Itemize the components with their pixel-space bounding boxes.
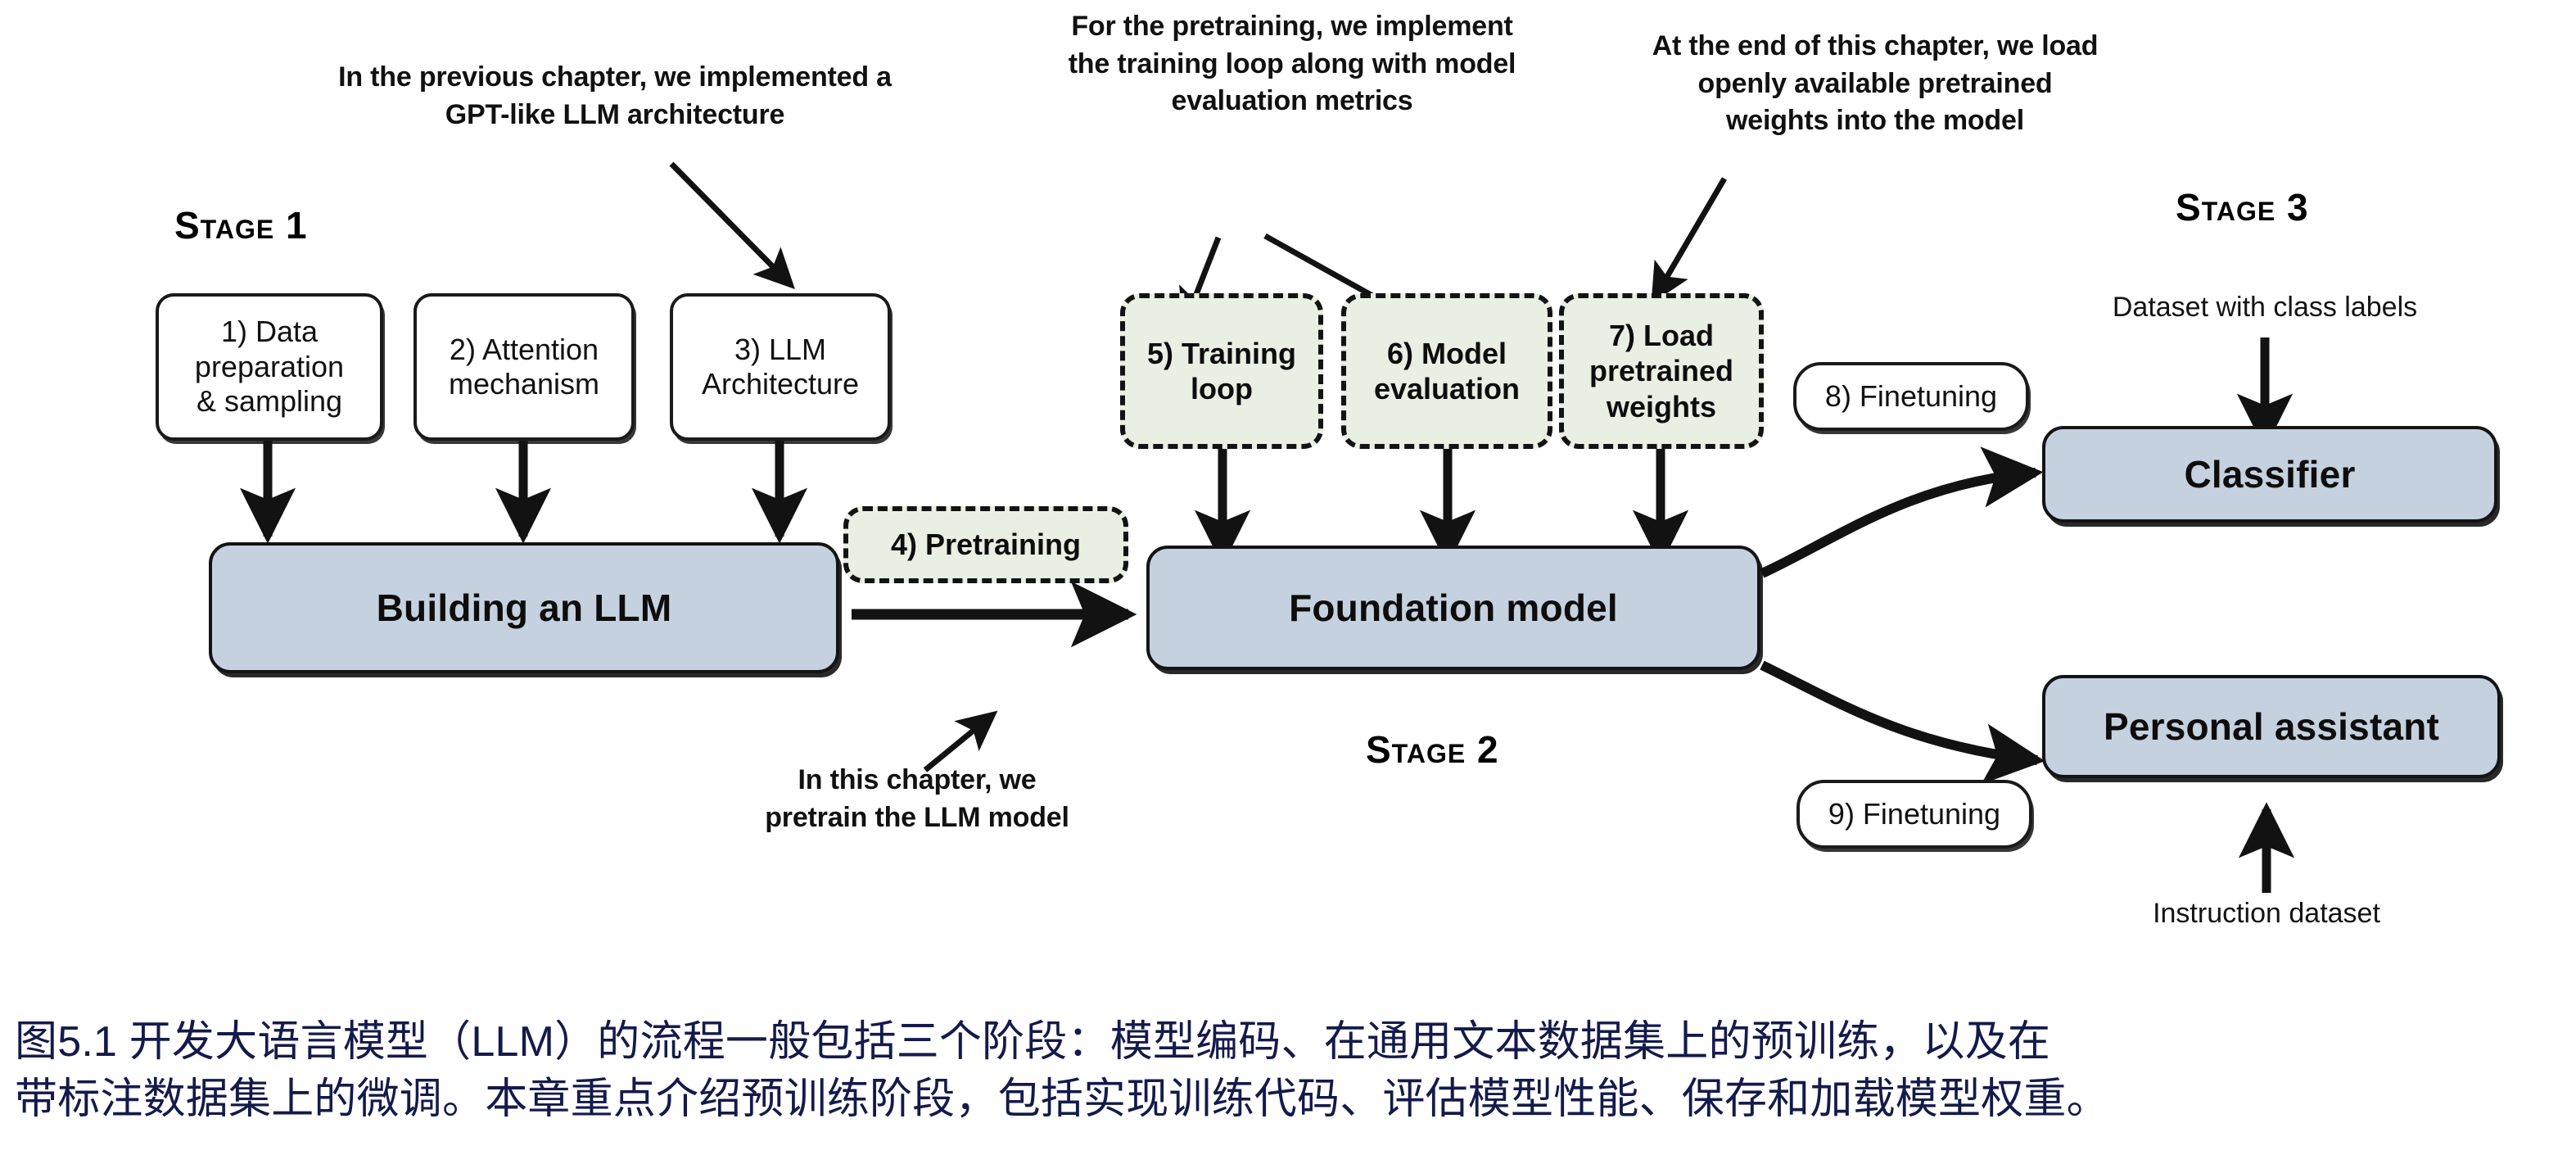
- main-box-building-an-llm[interactable]: Building an LLM: [209, 542, 839, 673]
- step-box-line: weights: [1607, 389, 1716, 424]
- step-box-label: 4) Pretraining: [891, 527, 1081, 562]
- step-box-load-pretrained-weights[interactable]: 7) Load pretrained weights: [1559, 293, 1764, 449]
- callout-pretraining-loop: For the pretraining, we implement the tr…: [1022, 8, 1562, 120]
- step-pill-finetuning-9[interactable]: 9) Finetuning: [1796, 780, 2032, 849]
- step-box-line: 7) Load: [1609, 318, 1714, 353]
- callout-line: evaluation metrics: [1022, 83, 1562, 120]
- note-instruction-dataset: Instruction dataset: [2111, 898, 2422, 930]
- note-dataset-class-labels: Dataset with class labels: [2077, 292, 2453, 324]
- main-box-label: Foundation model: [1289, 586, 1618, 630]
- callout-line: In this chapter, we: [721, 762, 1114, 799]
- step-box-line: loop: [1191, 371, 1253, 406]
- callout-this-chapter: In this chapter, we pretrain the LLM mod…: [721, 762, 1114, 836]
- step-box-line: 3) LLM: [734, 333, 826, 367]
- callout-load-weights: At the end of this chapter, we load open…: [1613, 28, 2137, 140]
- step-box-line: Architecture: [702, 367, 859, 401]
- callout-line: pretrain the LLM model: [721, 799, 1114, 837]
- step-box-line: evaluation: [1374, 371, 1520, 406]
- step-box-line: 6) Model: [1387, 336, 1507, 371]
- step-box-training-loop[interactable]: 5) Training loop: [1120, 293, 1323, 449]
- caption-line-2: 带标注数据集上的微调。本章重点介绍预训练阶段，包括实现训练代码、评估模型性能、保…: [15, 1071, 2569, 1129]
- step-box-line: 5) Training: [1147, 336, 1296, 371]
- figure-canvas: In the previous chapter, we implemented …: [0, 0, 2576, 1173]
- callout-line: For the pretraining, we implement: [1022, 8, 1562, 46]
- callout-line: openly available pretrained: [1613, 66, 2137, 103]
- step-box-line: preparation: [195, 350, 344, 384]
- main-box-label: Building an LLM: [377, 586, 672, 630]
- callout-line: GPT-like LLM architecture: [283, 97, 947, 134]
- step-box-data-preparation[interactable]: 1) Data preparation & sampling: [156, 293, 383, 441]
- step-box-model-evaluation[interactable]: 6) Model evaluation: [1341, 293, 1552, 449]
- callout-line: weights into the model: [1613, 102, 2137, 140]
- main-box-label: Classifier: [2184, 452, 2355, 496]
- stage-label-2: Stage 2: [1366, 727, 1499, 772]
- step-pill-label: 9) Finetuning: [1828, 797, 2000, 831]
- stage-label-3: Stage 3: [2176, 185, 2309, 229]
- step-box-line: 2) Attention: [450, 333, 599, 367]
- main-box-foundation-model[interactable]: Foundation model: [1146, 546, 1760, 670]
- main-box-classifier[interactable]: Classifier: [2042, 426, 2497, 523]
- callout-line: In the previous chapter, we implemented …: [283, 59, 947, 97]
- step-box-line: mechanism: [449, 367, 599, 401]
- figure-caption: 图5.1 开发大语言模型（LLM）的流程一般包括三个阶段：模型编码、在通用文本数…: [15, 1014, 2569, 1128]
- step-pill-finetuning-8[interactable]: 8) Finetuning: [1793, 362, 2029, 431]
- main-box-label: Personal assistant: [2104, 704, 2439, 749]
- step-box-line: 1) Data: [221, 315, 318, 349]
- step-box-attention-mechanism[interactable]: 2) Attention mechanism: [414, 293, 635, 441]
- caption-line-1: 图5.1 开发大语言模型（LLM）的流程一般包括三个阶段：模型编码、在通用文本数…: [15, 1014, 2569, 1071]
- main-box-personal-assistant[interactable]: Personal assistant: [2042, 675, 2501, 778]
- callout-previous-chapter: In the previous chapter, we implemented …: [283, 59, 947, 134]
- step-pill-label: 8) Finetuning: [1825, 379, 1997, 414]
- step-box-pretraining[interactable]: 4) Pretraining: [843, 506, 1128, 583]
- step-box-line: & sampling: [197, 384, 342, 419]
- callout-line: At the end of this chapter, we load: [1613, 28, 2137, 66]
- step-box-llm-architecture[interactable]: 3) LLM Architecture: [670, 293, 891, 441]
- callout-line: the training loop along with model: [1022, 46, 1562, 84]
- stage-label-1: Stage 1: [174, 203, 308, 247]
- step-box-line: pretrained: [1589, 353, 1733, 388]
